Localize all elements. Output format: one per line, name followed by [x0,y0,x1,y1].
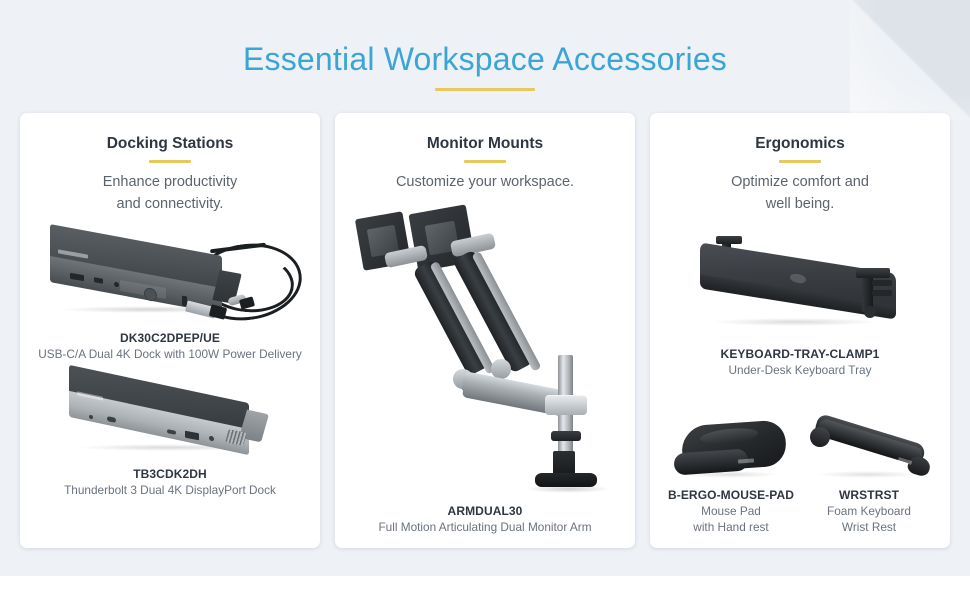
ergonomics-product-pair: B-ERGO-MOUSE-PAD Mouse Pad with Hand res… [662,411,938,536]
product-description-line-2: Wrist Rest [803,519,935,536]
tray-clamp-right-knob [864,306,876,318]
product-description-line-1: Mouse Pad [665,503,797,520]
product-tile-wrstrst[interactable]: WRSTRST Foam Keyboard Wrist Rest [803,411,935,536]
card-subtitle: Optimize comfort and well being. [731,171,869,216]
category-card-docking-stations[interactable]: Docking Stations Enhance productivity an… [20,113,320,548]
product-image-keyboard-tray-clamp1 [680,226,920,344]
product-image-wrstrst [804,417,934,483]
product-caption-dk30c2dpep-ue: DK30C2DPEP/UE USB-C/A Dual 4K Dock with … [32,330,308,363]
product-sku: TB3CDK2DH [32,466,308,482]
product-description-line-2: with Hand rest [665,519,797,536]
card-subtitle-line-2: well being. [731,193,869,215]
tray-clamp-left-head [716,236,742,244]
category-card-list: Docking Stations Enhance productivity an… [20,113,950,548]
category-card-monitor-mounts[interactable]: Monitor Mounts Customize your workspace. [335,113,635,548]
pole-collar [545,395,587,415]
height-adjust-knob [551,431,581,441]
category-card-ergonomics[interactable]: Ergonomics Optimize comfort and well bei… [650,113,950,548]
card-subtitle-line-1: Optimize comfort and [731,171,869,193]
card-title: Monitor Mounts [427,135,543,154]
product-shadow [710,318,880,326]
card-subtitle: Customize your workspace. [396,171,574,193]
product-sku: KEYBOARD-TRAY-CLAMP1 [662,346,938,362]
desk-clamp-base [535,473,597,487]
product-shadow [816,471,920,478]
product-sku: ARMDUAL30 [347,503,623,519]
card-title: Ergonomics [755,135,845,154]
product-image-tb3cdk2dh [55,376,285,462]
title-underline [435,88,535,91]
card-title-underline [464,160,506,163]
product-caption-tb3cdk2dh: TB3CDK2DH Thunderbolt 3 Dual 4K DisplayP… [32,466,308,499]
product-caption-armdual30: ARMDUAL30 Full Motion Articulating Dual … [347,503,623,536]
product-caption-keyboard-tray-clamp1: KEYBOARD-TRAY-CLAMP1 Under-Desk Keyboard… [662,346,938,379]
card-title-underline [149,160,191,163]
card-title-underline [779,160,821,163]
product-image-b-ergo-mouse-pad [666,417,796,483]
product-image-armdual30 [355,207,615,497]
product-sku: DK30C2DPEP/UE [32,330,308,346]
card-subtitle-line-1: Customize your workspace. [396,171,574,193]
card-title: Docking Stations [107,135,234,154]
product-sku: B-ERGO-MOUSE-PAD [665,487,797,503]
tray-clamp-right-head [856,268,890,278]
tray-clamp-right-arm-lower [872,290,892,296]
tray-clamp-right-arm-upper [872,280,892,286]
product-category-banner: Essential Workspace Accessories Docking … [0,0,970,599]
product-description-line-1: Foam Keyboard [803,503,935,520]
card-subtitle-line-2: and connectivity. [103,193,238,215]
product-description: Under-Desk Keyboard Tray [662,362,938,379]
page-title: Essential Workspace Accessories [0,40,970,78]
product-description: Full Motion Articulating Dual Monitor Ar… [347,519,623,536]
banner-header: Essential Workspace Accessories [0,40,970,91]
product-description: USB-C/A Dual 4K Dock with 100W Power Del… [32,346,308,363]
product-image-dk30c2dpep-ue [32,226,308,326]
product-sku: WRSTRST [803,487,935,503]
dock-usb-c-port [94,277,103,284]
product-description: Thunderbolt 3 Dual 4K DisplayPort Dock [32,482,308,499]
card-subtitle-line-1: Enhance productivity [103,171,238,193]
mouse-pad-brand-mark [738,458,754,463]
card-subtitle: Enhance productivity and connectivity. [103,171,238,216]
product-tile-b-ergo-mouse-pad[interactable]: B-ERGO-MOUSE-PAD Mouse Pad with Hand res… [665,411,797,536]
